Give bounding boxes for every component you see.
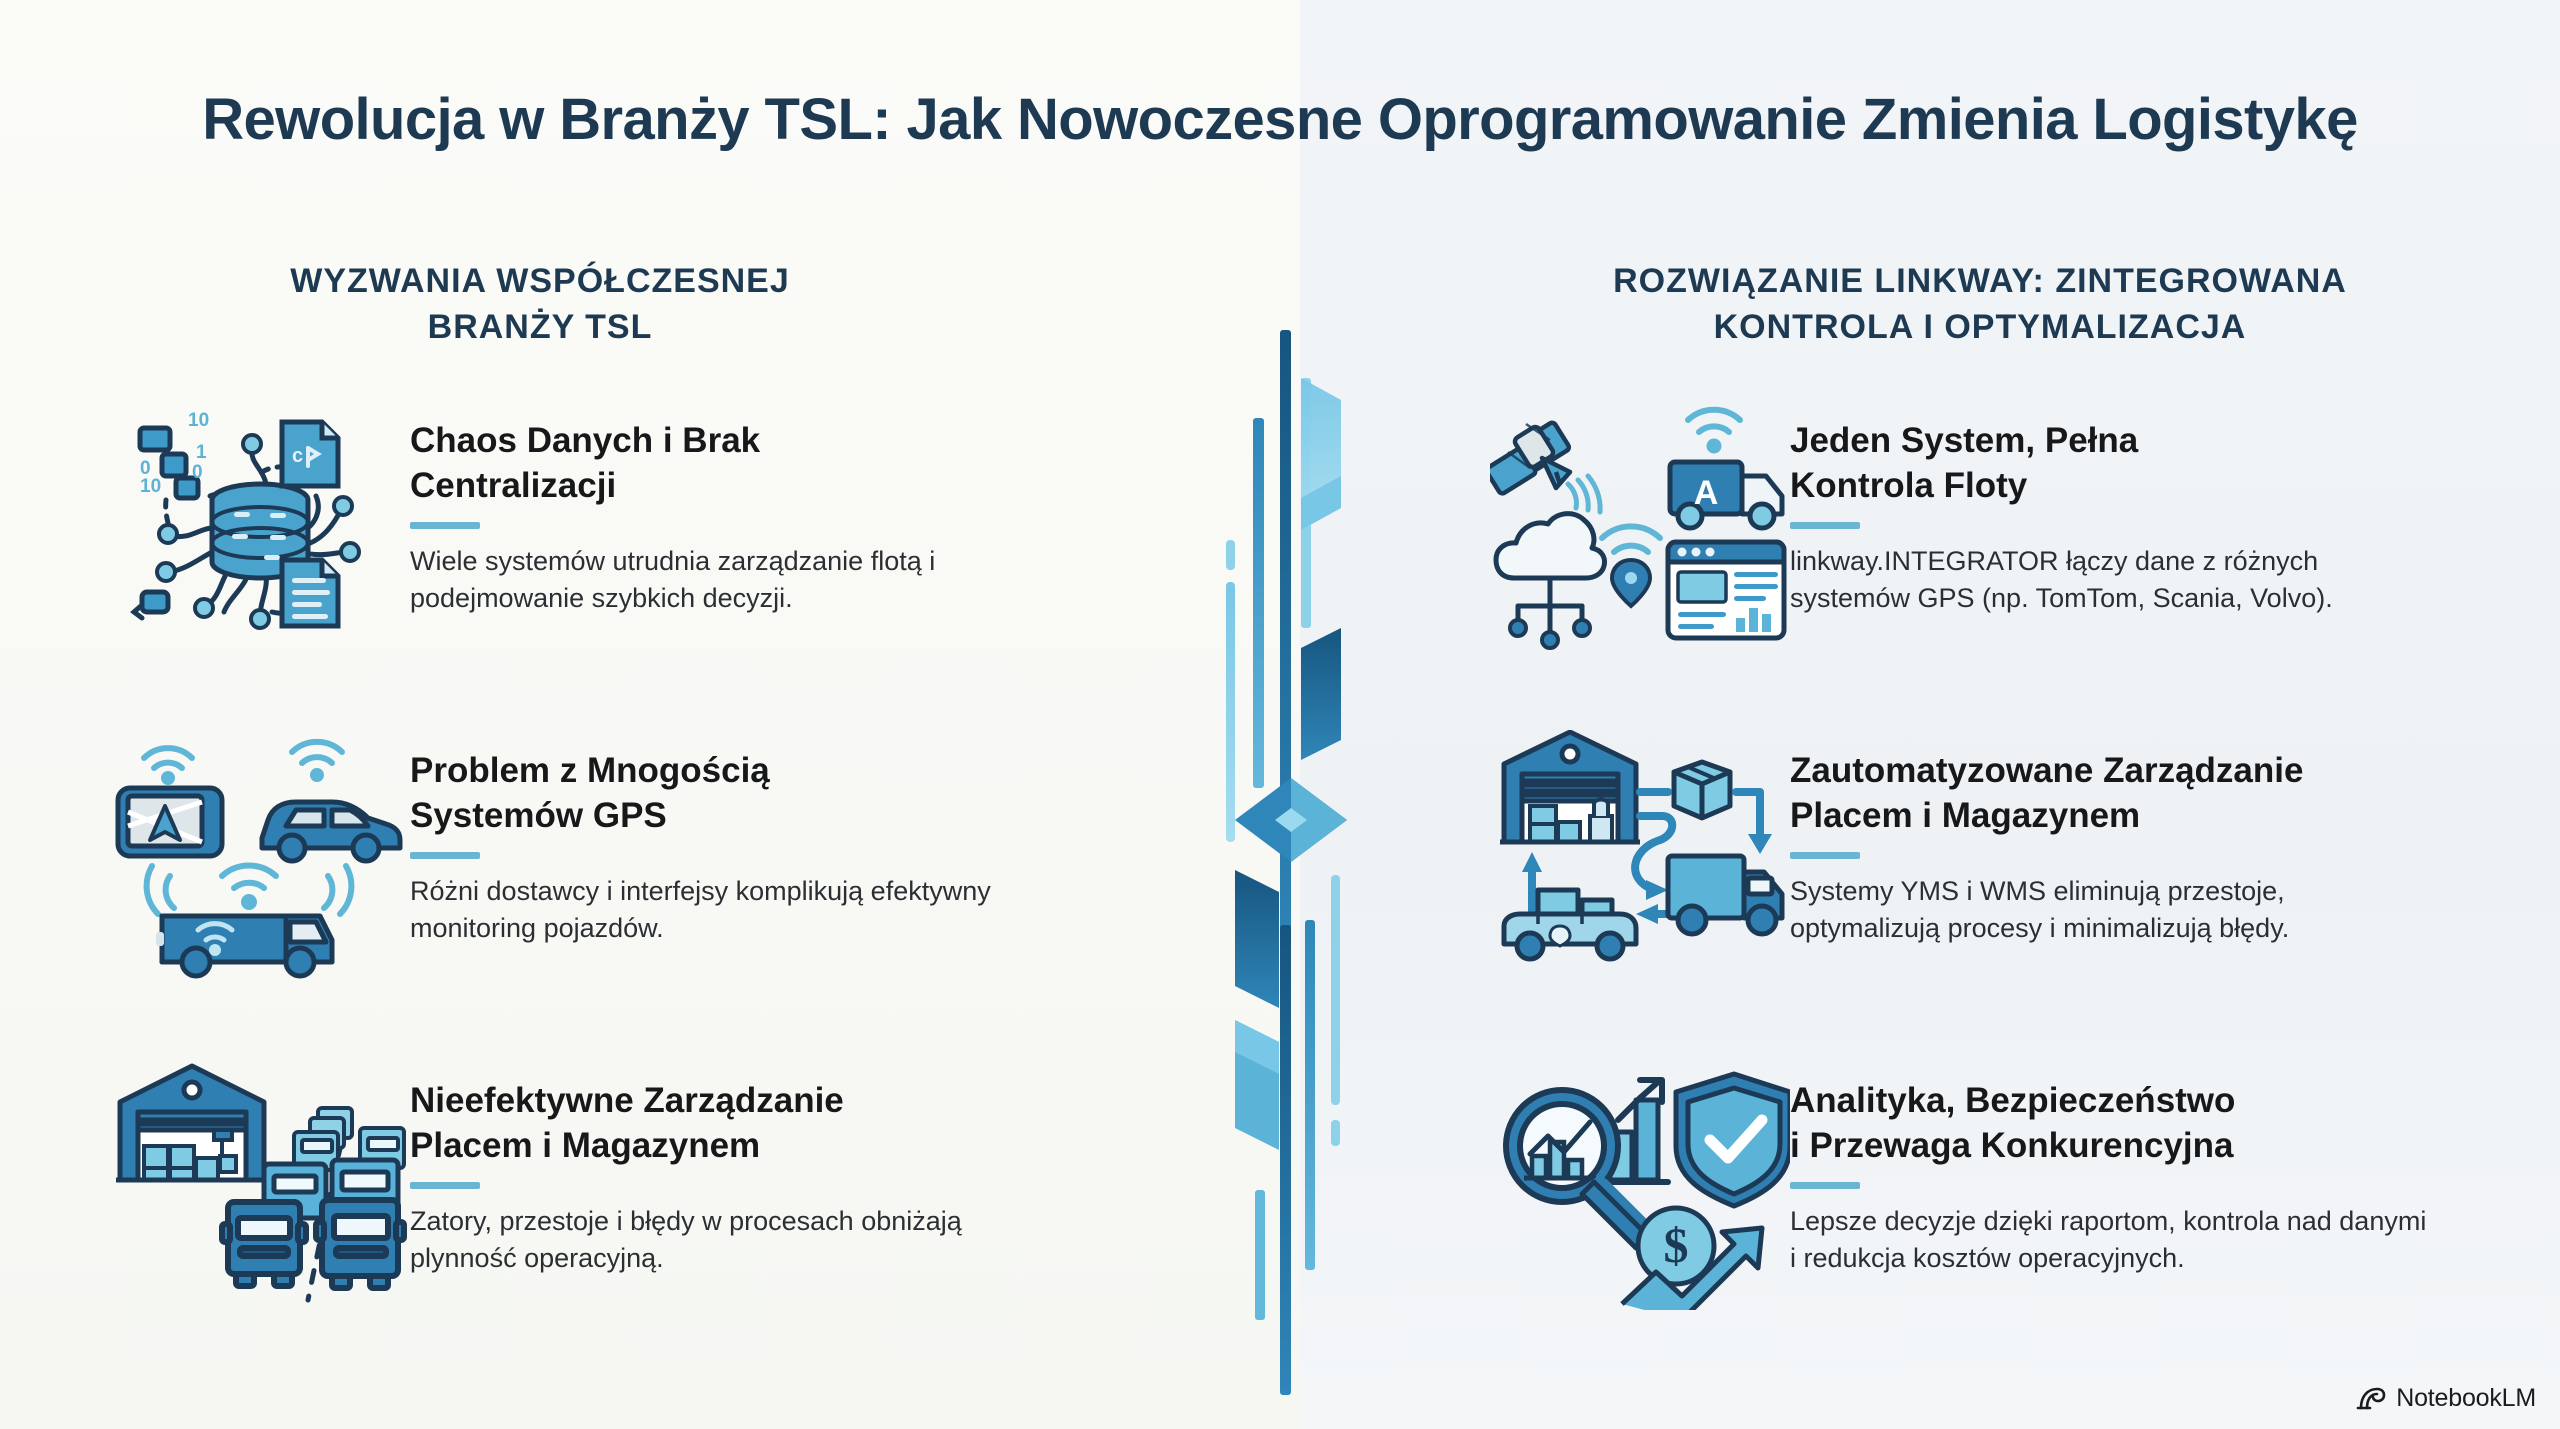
- list-item-text: Nieefektywne Zarządzanie Placem i Magazy…: [410, 1060, 1030, 1277]
- list-item: A: [1490, 400, 2430, 650]
- item-title-line1: Problem z Mnogością: [410, 748, 1030, 793]
- item-title-line2: Placem i Magazynem: [1790, 793, 2430, 838]
- item-title: Analityka, Bezpieczeństwo i Przewaga Kon…: [1790, 1078, 2430, 1168]
- left-column-header-line2: BRANŻY TSL: [110, 304, 970, 350]
- item-body: Wiele systemów utrudnia zarządzanie flot…: [410, 543, 1030, 617]
- item-title-line2: i Przewaga Konkurencyjna: [1790, 1123, 2430, 1168]
- item-title-line1: Zautomatyzowane Zarządzanie: [1790, 748, 2430, 793]
- accent-rule: [1790, 852, 1860, 859]
- item-title-line2: Placem i Magazynem: [410, 1123, 1030, 1168]
- item-title-line2: Kontrola Floty: [1790, 463, 2430, 508]
- list-item-text: Jeden System, Pełna Kontrola Floty linkw…: [1790, 400, 2430, 617]
- item-body: Różni dostawcy i interfejsy komplikują e…: [410, 873, 1030, 947]
- warehouse-truck-queue-icon: [110, 1060, 410, 1310]
- notebooklm-spiral-icon: [2356, 1386, 2386, 1412]
- right-column-header-line2: KONTROLA I OPTYMALIZACJA: [1480, 304, 2480, 350]
- right-column-header-line1: ROZWIĄZANIE LINKWAY: ZINTEGROWANA: [1480, 258, 2480, 304]
- list-item-text: Zautomatyzowane Zarządzanie Placem i Mag…: [1790, 730, 2430, 947]
- satellite-cloud-dashboard-icon: A: [1490, 400, 1790, 650]
- list-item-text: Chaos Danych i Brak Centralizacji Wiele …: [410, 400, 1030, 617]
- watermark-label: NotebookLM: [2396, 1384, 2536, 1413]
- list-item-text: Problem z Mnogością Systemów GPS Różni d…: [410, 730, 1030, 947]
- watermark: NotebookLM: [2356, 1384, 2536, 1413]
- database-cables-documents-icon: 10 1 0 0 10: [110, 400, 410, 650]
- list-item: $ Analityka, Bezpieczeństwo i Przewaga K…: [1490, 1060, 2430, 1310]
- item-body: Zatory, przestoje i błędy w procesach ob…: [410, 1203, 1030, 1277]
- accent-rule: [410, 522, 480, 529]
- item-body: linkway.INTEGRATOR łączy dane z różnych …: [1790, 543, 2430, 617]
- left-column-header: WYZWANIA WSPÓŁCZESNEJ BRANŻY TSL: [110, 258, 970, 350]
- svg-text:$: $: [1664, 1217, 1689, 1273]
- item-body: Systemy YMS i WMS eliminują przestoje, o…: [1790, 873, 2430, 947]
- svg-text:A: A: [1694, 474, 1719, 512]
- abstract-vertical-bars-diamond-icon: [1195, 330, 1425, 1410]
- accent-rule: [410, 852, 480, 859]
- item-title-line2: Centralizacji: [410, 463, 1030, 508]
- item-title-line2: Systemów GPS: [410, 793, 1030, 838]
- list-item: Nieefektywne Zarządzanie Placem i Magazy…: [110, 1060, 1030, 1310]
- warehouse-flow-automation-icon: [1490, 730, 1790, 980]
- item-title-line1: Analityka, Bezpieczeństwo: [1790, 1078, 2430, 1123]
- left-column-header-line1: WYZWANIA WSPÓŁCZESNEJ: [110, 258, 970, 304]
- accent-rule: [410, 1182, 480, 1189]
- gps-devices-vehicles-icon: [110, 730, 410, 980]
- accent-rule: [1790, 1182, 1860, 1189]
- svg-text:0: 0: [192, 462, 203, 483]
- item-title: Problem z Mnogością Systemów GPS: [410, 748, 1030, 838]
- accent-rule: [1790, 522, 1860, 529]
- item-body: Lepsze decyzje dzięki raportom, kontrola…: [1790, 1203, 2430, 1277]
- item-title: Chaos Danych i Brak Centralizacji: [410, 418, 1030, 508]
- svg-text:10: 10: [140, 476, 161, 497]
- item-title: Nieefektywne Zarządzanie Placem i Magazy…: [410, 1078, 1030, 1168]
- svg-text:10: 10: [188, 410, 209, 431]
- list-item-text: Analityka, Bezpieczeństwo i Przewaga Kon…: [1790, 1060, 2430, 1277]
- svg-text:c: c: [292, 445, 303, 467]
- infographic-canvas: Rewolucja w Branży TSL: Jak Nowoczesne O…: [0, 0, 2560, 1429]
- list-item: 10 1 0 0 10: [110, 400, 1030, 650]
- item-title-line1: Jeden System, Pełna: [1790, 418, 2430, 463]
- analytics-shield-growth-icon: $: [1490, 1060, 1790, 1310]
- right-column-header: ROZWIĄZANIE LINKWAY: ZINTEGROWANA KONTRO…: [1480, 258, 2480, 350]
- page-title: Rewolucja w Branży TSL: Jak Nowoczesne O…: [0, 86, 2560, 153]
- item-title-line1: Nieefektywne Zarządzanie: [410, 1078, 1030, 1123]
- list-item: Problem z Mnogością Systemów GPS Różni d…: [110, 730, 1030, 980]
- list-item: Zautomatyzowane Zarządzanie Placem i Mag…: [1490, 730, 2430, 980]
- item-title: Jeden System, Pełna Kontrola Floty: [1790, 418, 2430, 508]
- item-title-line1: Chaos Danych i Brak: [410, 418, 1030, 463]
- item-title: Zautomatyzowane Zarządzanie Placem i Mag…: [1790, 748, 2430, 838]
- svg-text:1: 1: [196, 442, 207, 463]
